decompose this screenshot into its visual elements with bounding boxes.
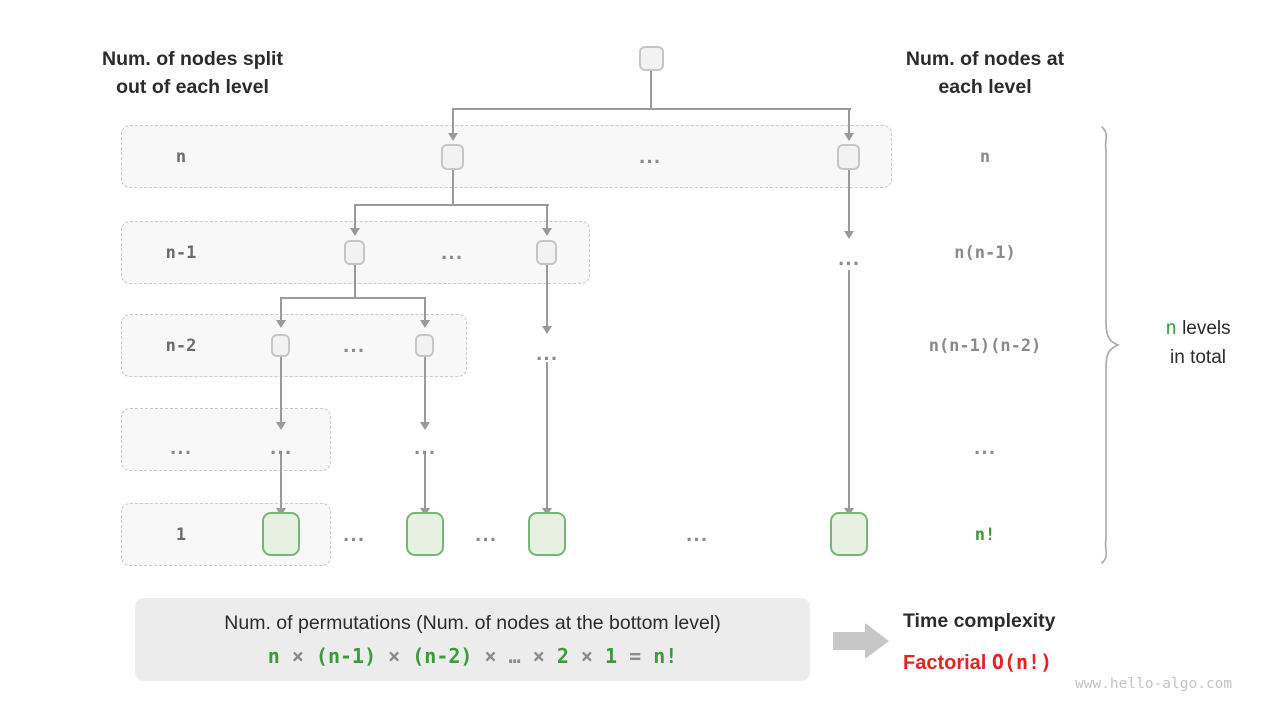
edge-root-stem bbox=[650, 71, 652, 109]
level-brace bbox=[1092, 125, 1132, 565]
arrowhead-l3-left bbox=[276, 320, 286, 328]
formula-term-6: 1 bbox=[605, 644, 617, 668]
arrowhead-row4-col1 bbox=[276, 422, 286, 430]
edge-dots-to-leaf3 bbox=[546, 362, 548, 512]
ellipsis-row4-col1: ... bbox=[251, 441, 311, 458]
tree-node-level3-left[interactable] bbox=[271, 334, 290, 357]
ellipsis-leaf-gap-1: ... bbox=[324, 528, 384, 545]
arrowhead-branch-col2 bbox=[420, 422, 430, 430]
formula-op-5: × bbox=[581, 644, 593, 668]
split-label-level-4: ... bbox=[141, 441, 221, 458]
formula-term-2: (n-1) bbox=[316, 644, 376, 668]
level-row-4 bbox=[121, 408, 331, 471]
tree-node-leaf-3[interactable] bbox=[528, 512, 566, 556]
split-label-level-3: n-2 bbox=[141, 336, 221, 356]
count-label-level-2: n(n-1) bbox=[885, 243, 1085, 263]
tree-node-root[interactable] bbox=[639, 46, 664, 71]
edge-dots-to-leaf4 bbox=[848, 270, 850, 512]
right-arrow-icon bbox=[833, 621, 893, 661]
edge-root-to-l1-left bbox=[452, 108, 454, 135]
split-label-level-2: n-1 bbox=[141, 243, 221, 263]
edge-l1r-to-dots bbox=[848, 170, 850, 233]
right-column-heading: Num. of nodes at each level bbox=[860, 45, 1110, 101]
count-label-level-1: n bbox=[885, 147, 1085, 167]
complexity-notation: O(n!) bbox=[992, 650, 1052, 674]
ellipsis-branch-col4: ... bbox=[819, 252, 879, 269]
brace-level-count: n bbox=[1165, 317, 1176, 339]
ellipsis-branch-col2: ... bbox=[395, 441, 455, 458]
watermark: www.hello-algo.com bbox=[1075, 676, 1232, 692]
tree-node-leaf-2[interactable] bbox=[406, 512, 444, 556]
ellipsis-row3-mid: ... bbox=[324, 339, 384, 356]
edge-l2l-stem bbox=[354, 265, 356, 298]
edge-l1l-bar bbox=[354, 204, 549, 206]
edge-l3r-to-dots bbox=[424, 357, 426, 424]
tree-node-level3-right[interactable] bbox=[415, 334, 434, 357]
tree-node-level1-right[interactable] bbox=[837, 144, 860, 170]
arrowhead-branch-col4 bbox=[844, 231, 854, 239]
time-complexity-title: Time complexity bbox=[903, 610, 1055, 633]
summary-caption: Num. of permutations (Num. of nodes at t… bbox=[224, 612, 720, 635]
arrowhead-l1-left bbox=[448, 133, 458, 141]
edge-l2l-bar bbox=[280, 297, 426, 299]
edge-l1l-to-l2-right bbox=[546, 204, 548, 230]
tree-node-leaf-1[interactable] bbox=[262, 512, 300, 556]
count-label-level-4: ... bbox=[885, 441, 1085, 458]
edge-l2r-to-dots bbox=[546, 265, 548, 328]
edge-root-to-l1-right bbox=[848, 108, 850, 135]
count-label-level-3: n(n-1)(n-2) bbox=[885, 336, 1085, 356]
arrowhead-l2-right bbox=[542, 228, 552, 236]
ellipsis-branch-col3: ... bbox=[517, 347, 577, 364]
brace-text-line2: in total bbox=[1170, 347, 1226, 368]
level-row-1 bbox=[121, 125, 892, 188]
tree-node-level2-right[interactable] bbox=[536, 240, 557, 265]
formula-term-1: n bbox=[268, 644, 280, 668]
formula-op-2: × bbox=[388, 644, 400, 668]
ellipsis-row1-mid: ... bbox=[620, 150, 680, 167]
formula-equals: = bbox=[629, 644, 641, 668]
edge-row4-to-leaf1 bbox=[280, 452, 282, 512]
split-label-level-1: n bbox=[141, 147, 221, 167]
count-label-level-5: n! bbox=[885, 525, 1085, 545]
complexity-name: Factorial bbox=[903, 652, 986, 674]
formula-term-5: 2 bbox=[557, 644, 569, 668]
edge-root-bar bbox=[452, 108, 851, 110]
arrowhead-l1-right bbox=[844, 133, 854, 141]
formula-result: n! bbox=[653, 644, 677, 668]
arrowhead-branch-col3 bbox=[542, 326, 552, 334]
brace-label: n levels in total bbox=[1128, 314, 1268, 372]
formula-term-3: (n-2) bbox=[412, 644, 472, 668]
ellipsis-leaf-gap-3: ... bbox=[667, 528, 727, 545]
arrowhead-l3-right bbox=[420, 320, 430, 328]
tree-node-level2-left[interactable] bbox=[344, 240, 365, 265]
edge-l1l-to-l2-left bbox=[354, 204, 356, 230]
summary-box: Num. of permutations (Num. of nodes at t… bbox=[135, 598, 810, 681]
edge-l1l-stem bbox=[452, 170, 454, 205]
ellipsis-leaf-gap-2: ... bbox=[456, 528, 516, 545]
diagram-canvas: Num. of nodes split out of each level Nu… bbox=[0, 0, 1280, 720]
formula-term-4: … bbox=[509, 644, 521, 668]
ellipsis-row2-mid: ... bbox=[422, 246, 482, 263]
edge-l2l-to-l3-right bbox=[424, 297, 426, 322]
tree-node-leaf-4[interactable] bbox=[830, 512, 868, 556]
formula-op-1: × bbox=[292, 644, 304, 668]
tree-node-level1-left[interactable] bbox=[441, 144, 464, 170]
formula-op-3: × bbox=[485, 644, 497, 668]
left-column-heading: Num. of nodes split out of each level bbox=[65, 45, 320, 101]
edge-l3l-to-row4 bbox=[280, 357, 282, 424]
arrowhead-l2-left bbox=[350, 228, 360, 236]
formula-op-4: × bbox=[533, 644, 545, 668]
time-complexity-value: Factorial O(n!) bbox=[903, 650, 1052, 675]
brace-text-line1: levels bbox=[1182, 318, 1231, 339]
summary-formula: n × (n-1) × (n-2) × … × 2 × 1 = n! bbox=[268, 644, 678, 668]
split-label-level-5: 1 bbox=[141, 525, 221, 545]
edge-l2l-to-l3-left bbox=[280, 297, 282, 322]
edge-dots-to-leaf2 bbox=[424, 452, 426, 512]
